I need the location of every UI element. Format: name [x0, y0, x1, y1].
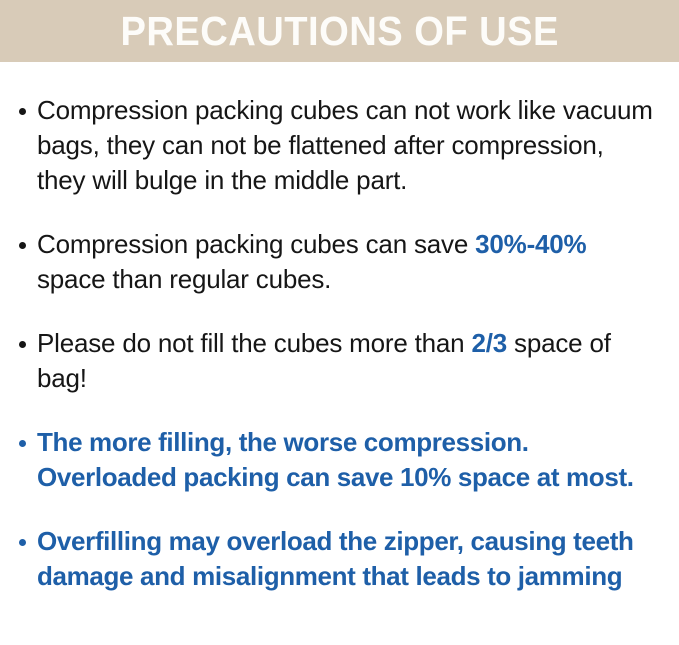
bullet-dot-icon	[12, 524, 37, 559]
list-item: Compression packing cubes can not work l…	[12, 93, 667, 198]
list-item-text: The more filling, the worse compression.…	[37, 425, 667, 495]
bullet-dot-icon	[12, 326, 37, 361]
text-segment: Compression packing cubes can save	[37, 229, 475, 259]
list-item: Compression packing cubes can save 30%-4…	[12, 227, 667, 297]
page-title: PRECAUTIONS OF USE	[120, 11, 558, 52]
text-segment: Overfilling may overload the zipper, cau…	[37, 526, 634, 591]
list-item: The more filling, the worse compression.…	[12, 425, 667, 495]
list-item-text: Compression packing cubes can not work l…	[37, 93, 667, 198]
list-item: Overfilling may overload the zipper, cau…	[12, 524, 667, 594]
bullet-dot-icon	[12, 425, 37, 460]
bullet-dot-icon	[12, 93, 37, 128]
text-segment: Compression packing cubes can not work l…	[37, 95, 653, 195]
text-segment: Please do not fill the cubes more than	[37, 328, 471, 358]
list-item-text: Compression packing cubes can save 30%-4…	[37, 227, 667, 297]
list-item-text: Overfilling may overload the zipper, cau…	[37, 524, 667, 594]
highlight-fill-limit: 2/3	[471, 328, 507, 358]
precautions-page: PRECAUTIONS OF USE Compression packing c…	[0, 0, 679, 645]
text-segment: space than regular cubes.	[37, 264, 331, 294]
list-item-text: Please do not fill the cubes more than 2…	[37, 326, 667, 396]
list-item: Please do not fill the cubes more than 2…	[12, 326, 667, 396]
header-banner: PRECAUTIONS OF USE	[0, 0, 679, 62]
precautions-list: Compression packing cubes can not work l…	[0, 62, 679, 594]
highlight-space-savings: 30%-40%	[475, 229, 586, 259]
bullet-dot-icon	[12, 227, 37, 262]
text-segment: The more filling, the worse compression.…	[37, 427, 634, 492]
